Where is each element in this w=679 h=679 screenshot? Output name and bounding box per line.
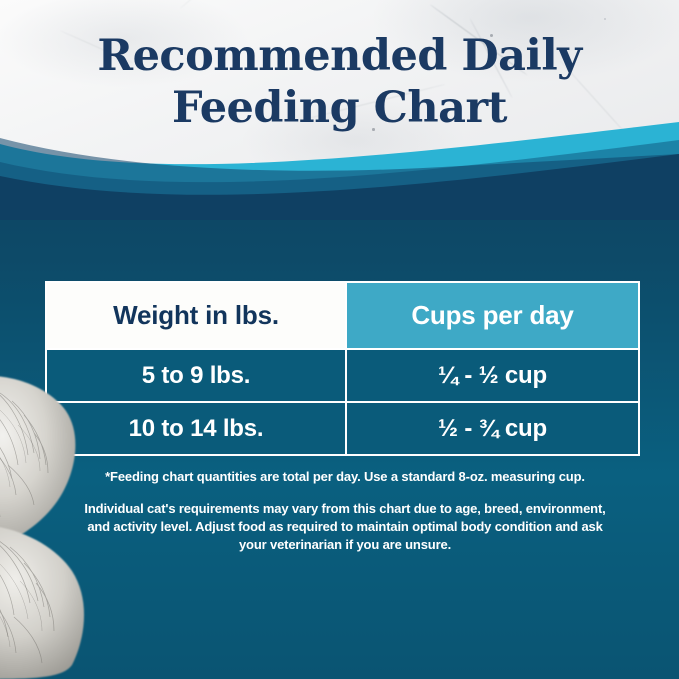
table-header-row: Weight in lbs. Cups per day — [47, 283, 638, 348]
table-header-cups: Cups per day — [345, 283, 638, 348]
table-cell-cups: ½ - ¾ cup — [345, 403, 638, 454]
table-cell-cups: ¼ - ½ cup — [345, 350, 638, 401]
marble-speck — [604, 18, 606, 20]
marble-vein — [180, 0, 234, 9]
cat-paws-image — [0, 375, 140, 679]
feeding-chart-page: Recommended Daily Feeding Chart Weight i… — [0, 0, 679, 679]
page-title: Recommended Daily Feeding Chart — [0, 30, 679, 134]
cat-paw-upper — [0, 376, 75, 551]
table-header-weight: Weight in lbs. — [47, 283, 345, 348]
cat-paw-lower — [0, 524, 84, 679]
page-title-line-1: Recommended Daily — [0, 30, 679, 82]
page-title-line-2: Feeding Chart — [0, 82, 679, 134]
